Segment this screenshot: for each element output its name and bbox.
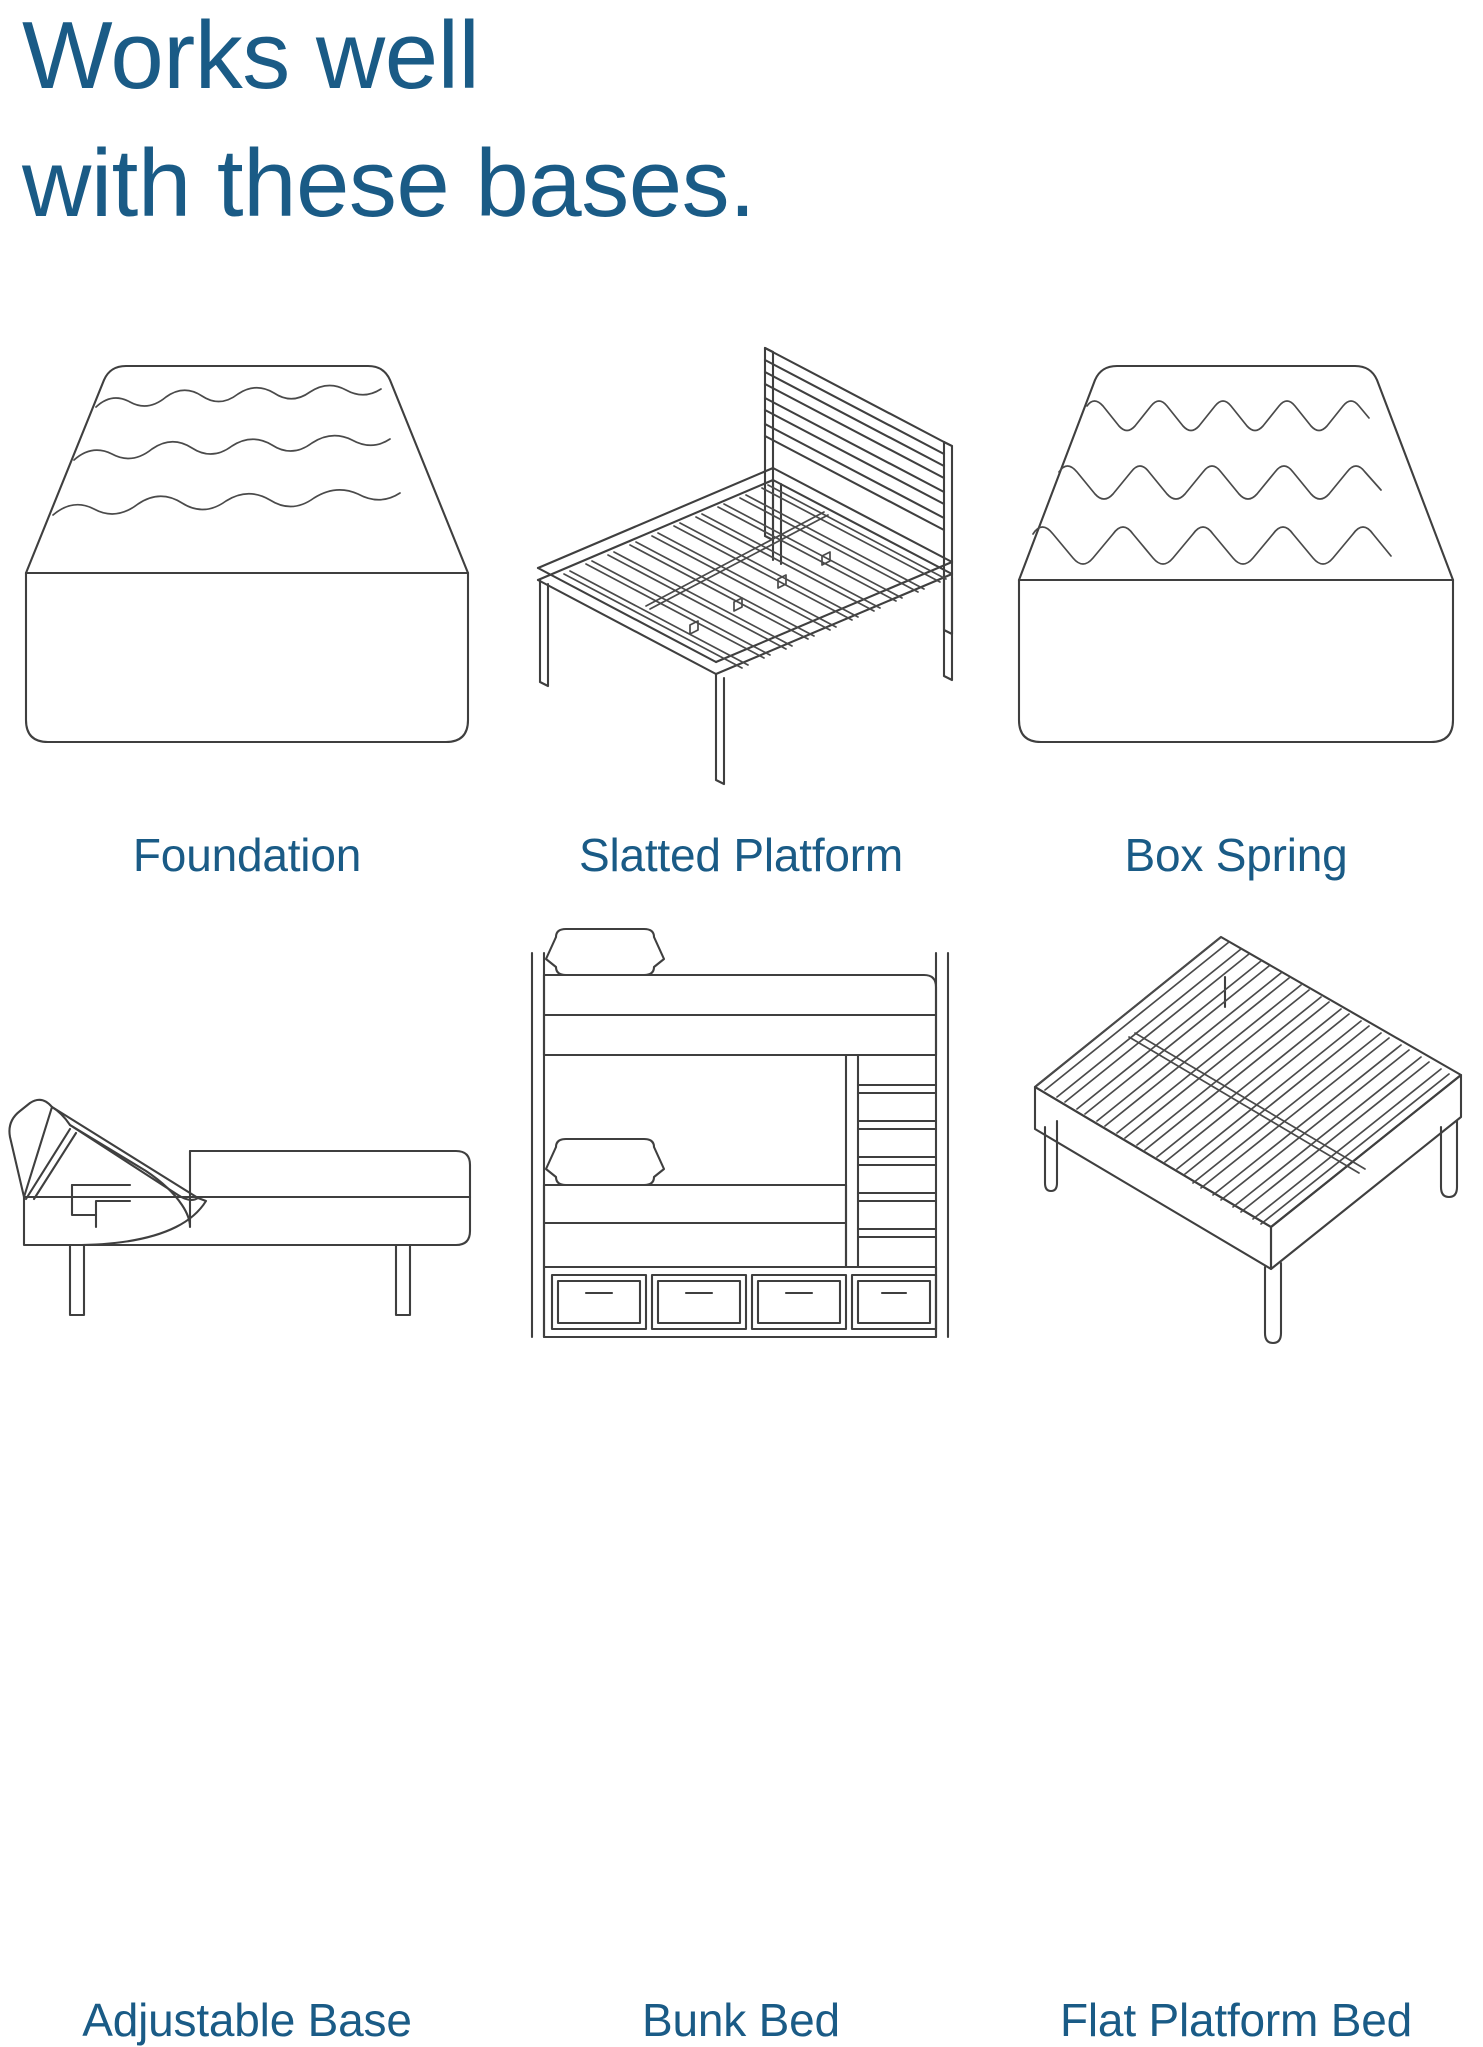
adjustable-base-illustration [0, 915, 494, 1385]
base-label-bunk-bed: Bunk Bed [494, 1993, 988, 2047]
base-label-slatted-platform: Slatted Platform [494, 828, 988, 882]
base-label-flat-platform-bed: Flat Platform Bed [989, 1993, 1483, 2047]
bases-grid: Foundation [0, 330, 1483, 1500]
foundation-illustration [0, 330, 494, 800]
base-card-slatted-platform: Slatted Platform [494, 330, 988, 915]
base-card-foundation: Foundation [0, 330, 494, 915]
page-title: Works well with these bases. [22, 0, 755, 247]
base-label-foundation: Foundation [0, 828, 494, 882]
slatted-platform-illustration [494, 330, 988, 800]
base-label-adjustable-base: Adjustable Base [0, 1993, 494, 2047]
base-card-adjustable-base: Adjustable Base [0, 915, 494, 1500]
bunk-bed-illustration [494, 915, 988, 1385]
base-card-box-spring: Box Spring [989, 330, 1483, 915]
base-card-bunk-bed: Bunk Bed [494, 915, 988, 1500]
box-spring-illustration [989, 330, 1483, 800]
flat-platform-bed-illustration [989, 915, 1483, 1385]
base-label-box-spring: Box Spring [989, 828, 1483, 882]
base-card-flat-platform-bed: Flat Platform Bed [989, 915, 1483, 1500]
